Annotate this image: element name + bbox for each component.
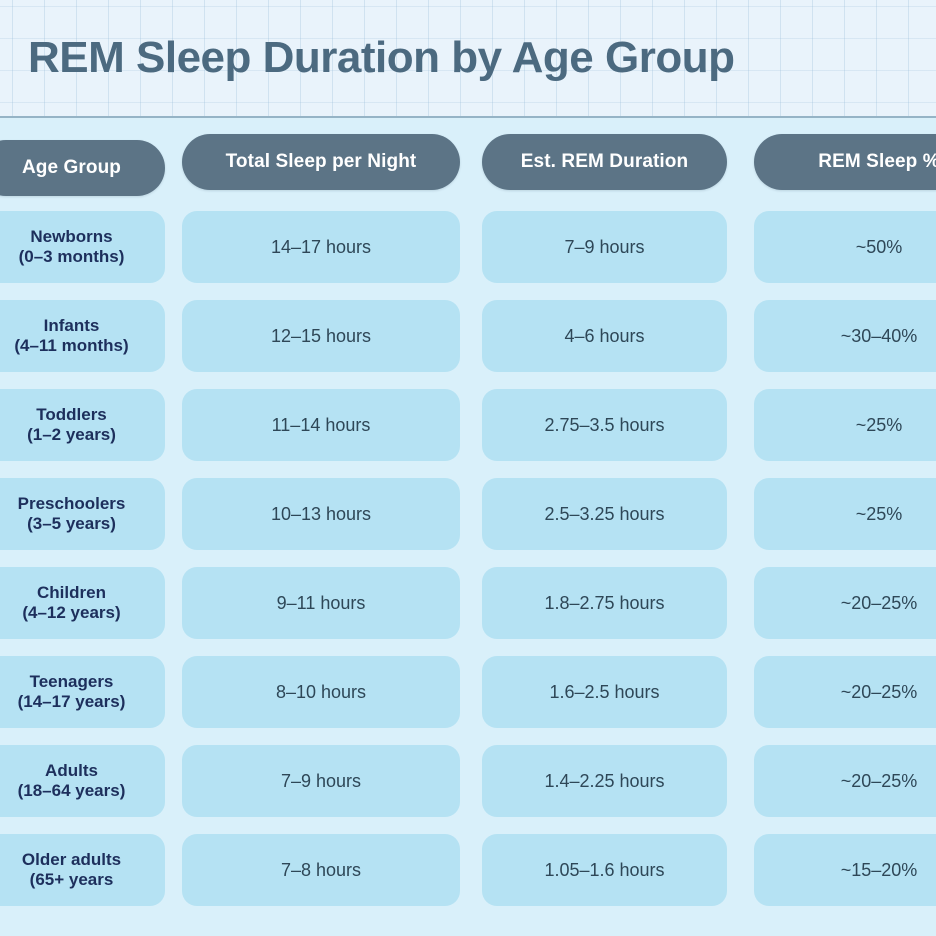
cell-age-group: Teenagers (14–17 years) [0,656,165,728]
cell-rem-duration: 1.05–1.6 hours [482,834,727,906]
cell-rem-percent: ~15–20% [754,834,936,906]
table-row: Teenagers (14–17 years) 8–10 hours 1.6–2… [0,656,936,728]
cell-rem-percent: ~25% [754,389,936,461]
cell-age-group: Toddlers (1–2 years) [0,389,165,461]
page-title: REM Sleep Duration by Age Group [28,30,734,86]
table-row: Newborns (0–3 months) 14–17 hours 7–9 ho… [0,211,936,283]
cell-total-sleep: 12–15 hours [182,300,460,372]
age-group-name: Adults [0,761,165,781]
cell-age-group: Older adults (65+ years [0,834,165,906]
cell-age-group: Preschoolers (3–5 years) [0,478,165,550]
age-group-range: (65+ years [0,870,165,890]
cell-rem-duration: 7–9 hours [482,211,727,283]
cell-rem-percent: ~20–25% [754,567,936,639]
table-header-row: Age Group Total Sleep per Night Est. REM… [0,134,936,190]
age-group-name: Children [0,583,165,603]
cell-total-sleep: 14–17 hours [182,211,460,283]
age-group-name: Newborns [0,227,165,247]
table-row: Toddlers (1–2 years) 11–14 hours 2.75–3.… [0,389,936,461]
table-row: Older adults (65+ years 7–8 hours 1.05–1… [0,834,936,906]
table: Age Group Total Sleep per Night Est. REM… [0,118,936,936]
age-group-range: (4–12 years) [0,603,165,623]
age-group-name: Preschoolers [0,494,165,514]
cell-total-sleep: 7–8 hours [182,834,460,906]
cell-age-group: Infants (4–11 months) [0,300,165,372]
age-group-range: (3–5 years) [0,514,165,534]
cell-total-sleep: 11–14 hours [182,389,460,461]
age-group-range: (1–2 years) [0,425,165,445]
infographic-table-page: REM Sleep Duration by Age Group Age Grou… [0,0,936,936]
column-header-age-group[interactable]: Age Group [0,140,165,196]
column-header-rem-sleep-percent[interactable]: REM Sleep % [754,134,936,190]
title-band: REM Sleep Duration by Age Group [0,0,936,118]
cell-rem-percent: ~20–25% [754,656,936,728]
age-group-name: Teenagers [0,672,165,692]
cell-total-sleep: 7–9 hours [182,745,460,817]
age-group-name: Older adults [0,850,165,870]
cell-age-group: Newborns (0–3 months) [0,211,165,283]
age-group-range: (0–3 months) [0,247,165,267]
cell-rem-percent: ~50% [754,211,936,283]
table-area: Age Group Total Sleep per Night Est. REM… [0,118,936,936]
table-row: Children (4–12 years) 9–11 hours 1.8–2.7… [0,567,936,639]
cell-age-group: Adults (18–64 years) [0,745,165,817]
table-row: Adults (18–64 years) 7–9 hours 1.4–2.25 … [0,745,936,817]
cell-rem-percent: ~30–40% [754,300,936,372]
cell-rem-percent: ~25% [754,478,936,550]
table-row: Infants (4–11 months) 12–15 hours 4–6 ho… [0,300,936,372]
cell-rem-duration: 2.5–3.25 hours [482,478,727,550]
table-row: Preschoolers (3–5 years) 10–13 hours 2.5… [0,478,936,550]
column-header-total-sleep-per-night[interactable]: Total Sleep per Night [182,134,460,190]
cell-total-sleep: 10–13 hours [182,478,460,550]
age-group-range: (14–17 years) [0,692,165,712]
cell-rem-duration: 2.75–3.5 hours [482,389,727,461]
column-header-est-rem-duration[interactable]: Est. REM Duration [482,134,727,190]
age-group-range: (18–64 years) [0,781,165,801]
age-group-name: Toddlers [0,405,165,425]
cell-rem-duration: 1.8–2.75 hours [482,567,727,639]
age-group-name: Infants [0,316,165,336]
cell-rem-duration: 1.6–2.5 hours [482,656,727,728]
cell-total-sleep: 8–10 hours [182,656,460,728]
cell-rem-duration: 1.4–2.25 hours [482,745,727,817]
age-group-range: (4–11 months) [0,336,165,356]
cell-age-group: Children (4–12 years) [0,567,165,639]
cell-rem-duration: 4–6 hours [482,300,727,372]
cell-rem-percent: ~20–25% [754,745,936,817]
cell-total-sleep: 9–11 hours [182,567,460,639]
